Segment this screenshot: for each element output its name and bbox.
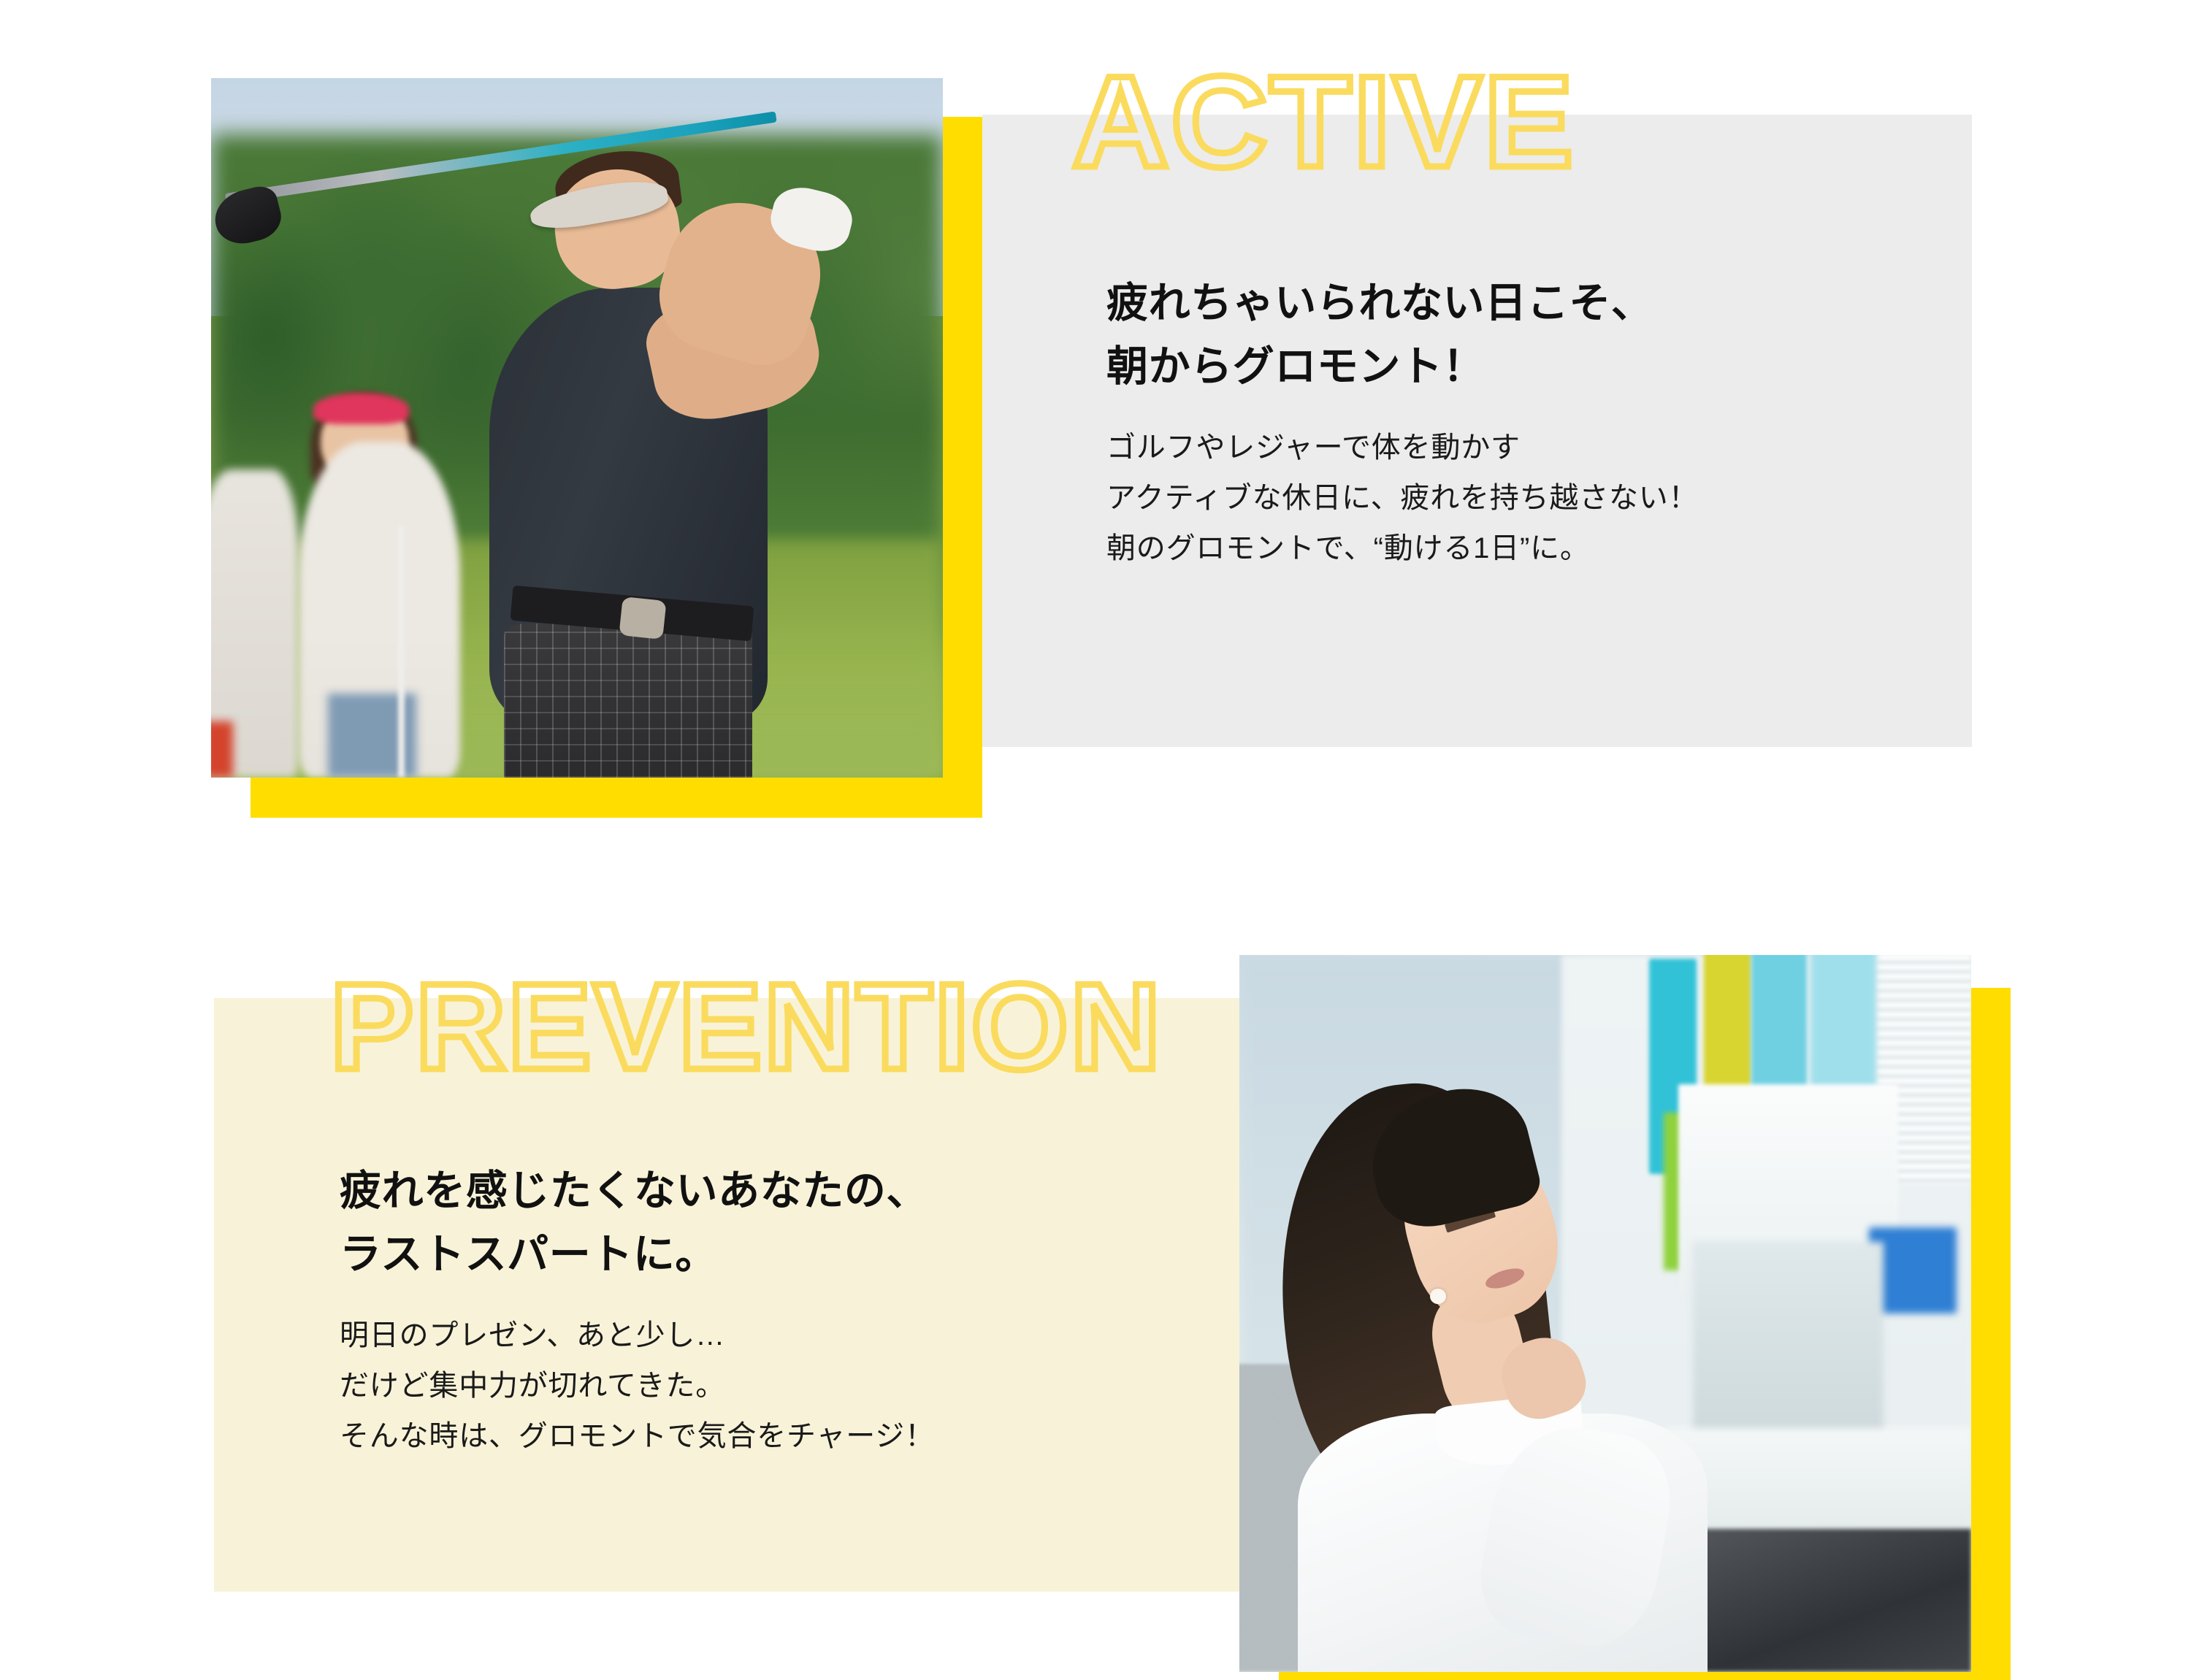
photo-bystander-left-bag <box>211 721 233 778</box>
prevention-title: 疲れを感じたくないあなたの、 ラストスパートに。 <box>340 1159 1158 1286</box>
page-root: ACTIVE 疲れちゃいられない日こそ、 朝からグロモント！ ゴルフやレジャーで… <box>0 0 2191 1680</box>
photo-bystander-woman-cap <box>313 393 408 424</box>
active-title: 疲れちゃいられない日こそ、 朝からグロモント！ <box>1106 272 1924 398</box>
prevention-copy-block: 疲れを感じたくないあなたの、 ラストスパートに。 明日のプレゼン、あと少し… だ… <box>340 1159 1158 1462</box>
prevention-eyebrow-heading: PREVENTION <box>330 965 1163 1088</box>
photo-office-folder <box>1810 955 1876 1098</box>
prevention-body-text: 明日のプレゼン、あと少し… だけど集中力が切れてきた。 そんな時は、グロモントで… <box>340 1311 1158 1461</box>
photo-office-folder <box>1751 955 1806 1105</box>
photo-putter <box>398 526 405 778</box>
photo-office-folder <box>1704 955 1751 1098</box>
active-copy-block: 疲れちゃいられない日こそ、 朝からグロモント！ ゴルフやレジャーで体を動かす ア… <box>1106 272 1924 574</box>
active-eyebrow-heading: ACTIVE <box>1072 57 1575 187</box>
photo-woman-earring <box>1430 1289 1446 1305</box>
active-photo-golf <box>211 78 943 778</box>
photo-golfer-buckle <box>619 597 667 640</box>
active-body-text: ゴルフやレジャーで体を動かす アクティブな休日に、疲れを持ち越さない！ 朝のグロ… <box>1106 423 1924 573</box>
photo-office-cabinet <box>1693 1242 1884 1443</box>
prevention-photo-office <box>1239 955 1971 1672</box>
photo-golfer-pants <box>504 624 753 778</box>
photo-office-monitor <box>1700 1529 1971 1672</box>
photo-office-desk <box>1664 1428 1971 1543</box>
